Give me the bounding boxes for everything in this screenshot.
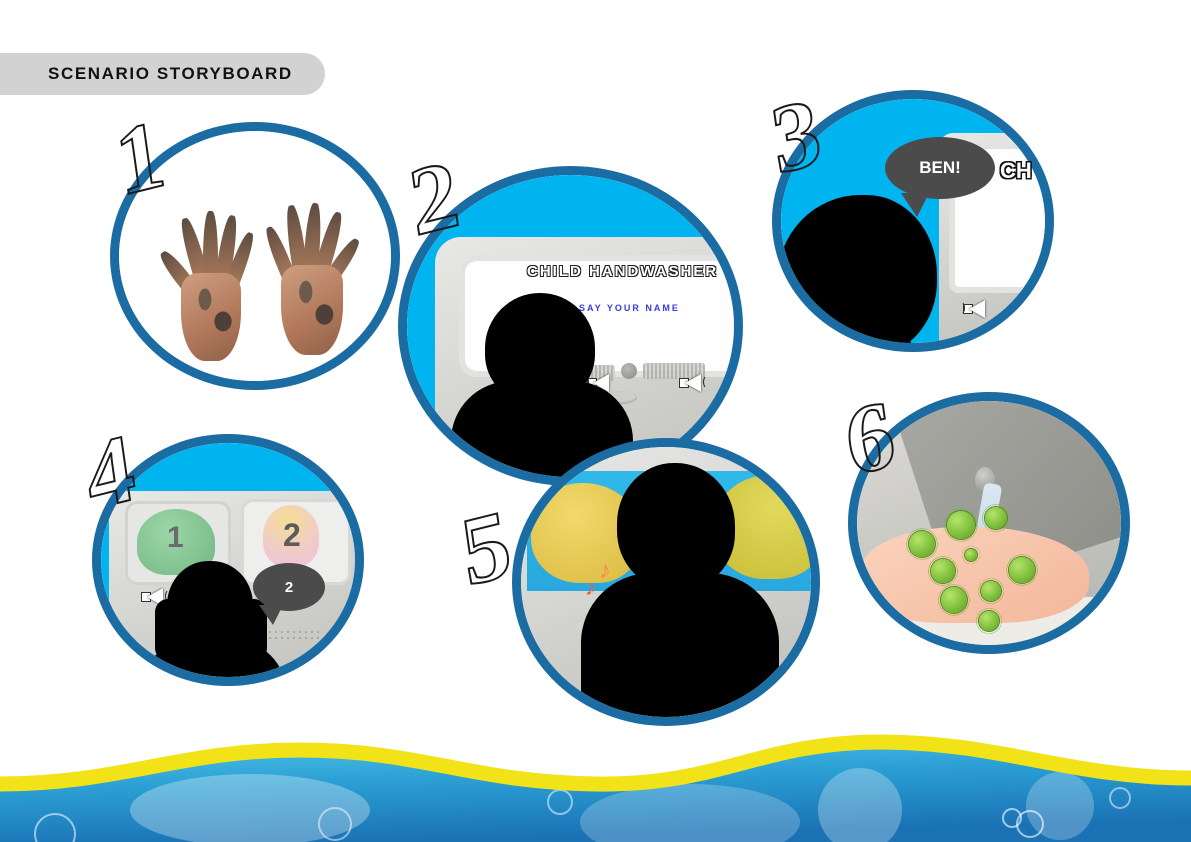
panel-6-washing-germs-away: [848, 392, 1130, 654]
device-subtitle-text: SAY YOUR NAME: [579, 303, 680, 313]
panel-5-scene: ♫ ♪ ♪ ♫: [521, 447, 811, 717]
germ-icon: [931, 559, 955, 583]
panel-4-child-chooses-option: 1 2 2: [92, 434, 364, 686]
device-camera-icon: [621, 363, 637, 379]
germ-icon: [1009, 557, 1035, 583]
speech-bubble-panel4: 2: [253, 563, 325, 611]
panel-1-scene: [119, 131, 391, 381]
speech-bubble-text-panel4: 2: [285, 579, 293, 596]
germ-icon: [909, 531, 935, 557]
dirty-hand-left: [169, 211, 251, 361]
germ-icon: [965, 549, 977, 561]
panel-3-scene: BEN!: [781, 99, 1045, 343]
panel-3-child-says-name: BEN!: [772, 90, 1054, 352]
speech-bubble-text: BEN!: [919, 158, 961, 178]
dirty-hand-right: [271, 203, 353, 353]
device-dot-grille: [707, 427, 734, 439]
panel-5-number: 5: [456, 494, 516, 601]
device-title-text: CHILD HANDWASHER: [527, 263, 718, 280]
speaker-icon-panel3: [963, 297, 997, 319]
speech-bubble-tail: [901, 193, 929, 217]
speech-bubble: BEN!: [885, 137, 995, 199]
option-one-label: 1: [167, 521, 184, 555]
panel-1-dirty-hands: [110, 122, 400, 390]
water-wave-decoration: [0, 732, 1191, 842]
panel-2-child-at-handwasher: CHILD HANDWASHER SAY YOUR NAME: [398, 166, 743, 486]
page-title: SCENARIO STORYBOARD: [48, 64, 293, 84]
child-body-silhouette-panel5: [581, 573, 779, 717]
option-two-label: 2: [283, 517, 301, 554]
device-partial-text: CH: [1000, 158, 1032, 184]
speech-bubble-tail-panel4: [259, 605, 283, 625]
germ-icon: [979, 611, 999, 631]
germ-icon: [947, 511, 975, 539]
germ-icon: [941, 587, 967, 613]
hand-illustration: [861, 527, 1089, 623]
germ-icon: [985, 507, 1007, 529]
speaker-icon-right: [679, 371, 713, 393]
child-head-silhouette-panel5: [617, 463, 735, 589]
germ-icon: [981, 581, 1001, 601]
device-dot-grille-panel4: [261, 629, 321, 639]
panel-4-scene: 1 2 2: [101, 443, 355, 677]
music-note-red: ♪: [585, 575, 596, 601]
panel-6-scene: [857, 401, 1121, 645]
music-note-orange: ♪: [599, 557, 611, 585]
panel-5-dinosaur-animation: ♫ ♪ ♪ ♫: [512, 438, 820, 726]
wave-svg: [0, 732, 1191, 842]
panel-2-scene: CHILD HANDWASHER SAY YOUR NAME: [407, 175, 734, 477]
